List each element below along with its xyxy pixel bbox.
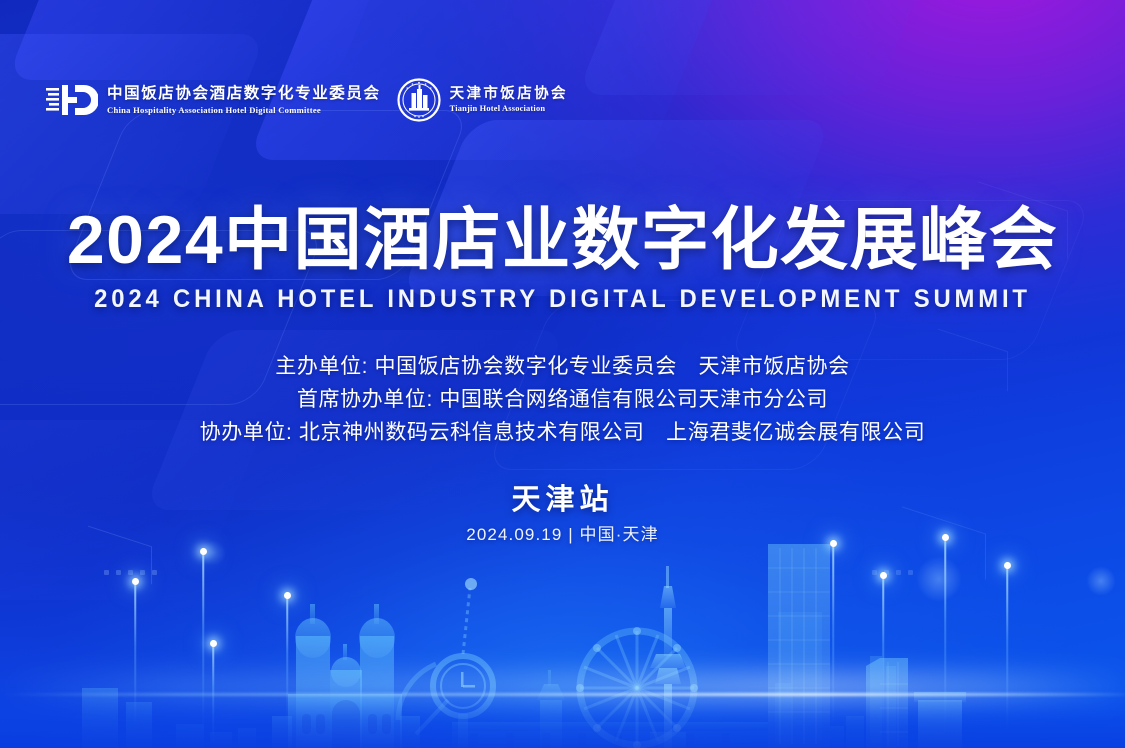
- light-beam: [128, 578, 142, 728]
- bottom-fade: [0, 686, 1125, 748]
- century-clock-monument: [398, 578, 493, 748]
- conference-banner: 中国饭店协会酒店数字化专业委员会 China Hospitality Assoc…: [0, 0, 1125, 748]
- logo-bar: 中国饭店协会酒店数字化专业委员会 China Hospitality Assoc…: [46, 78, 568, 122]
- decor-parallelogram: [577, 0, 944, 95]
- cha-logo-text: 中国饭店协会酒店数字化专业委员会 China Hospitality Assoc…: [107, 85, 381, 114]
- light-beam: [938, 534, 952, 732]
- tianjin-logo-cn: 天津市饭店协会: [450, 86, 568, 103]
- modern-towers: [768, 544, 966, 748]
- decor-parallelogram: [0, 34, 266, 214]
- title-block: 2024中国酒店业数字化发展峰会 2024 CHINA HOTEL INDUST…: [0, 206, 1125, 312]
- tianjin-eye-ferris-wheel: [576, 627, 698, 748]
- tianjin-radio-tv-tower: [650, 566, 686, 748]
- venue-block: 天津站 2024.09.19 | 中国·天津: [0, 485, 1125, 545]
- dot-row-motif: [872, 570, 913, 575]
- organizer-block: 主办单位: 中国饭店协会数字化专业委员会 天津市饭店协会 首席协办单位: 中国联…: [0, 350, 1125, 449]
- ground-glow-line: [0, 693, 1125, 696]
- haihe-bridge: [452, 722, 768, 748]
- organizer-line-host: 主办单位: 中国饭店协会数字化专业委员会 天津市饭店协会: [0, 350, 1125, 383]
- ground-glow-soft: [0, 674, 1125, 700]
- venue-date-location: 2024.09.19 | 中国·天津: [0, 526, 1125, 545]
- decor-parallelogram: [6, 0, 407, 80]
- venue-city: 天津站: [0, 485, 1125, 517]
- organizer-line-chief-coorganizer: 首席协办单位: 中国联合网络通信有限公司天津市分公司: [0, 383, 1125, 416]
- cha-logo-cn: 中国饭店协会酒店数字化专业委员会: [107, 85, 381, 103]
- dot-row-motif: [104, 570, 157, 575]
- organizer-line-coorganizer: 协办单位: 北京神州数码云科信息技术有限公司 上海君斐亿诚会展有限公司: [0, 416, 1125, 449]
- tianjin-hotel-association-seal-icon: [397, 78, 441, 122]
- cha-hd-monogram-icon: [46, 80, 98, 120]
- light-beam: [1000, 562, 1014, 732]
- light-beam: [280, 592, 294, 728]
- main-title-en: 2024 CHINA HOTEL INDUSTRY DIGITAL DEVELO…: [25, 287, 1099, 312]
- cha-logo: 中国饭店协会酒店数字化专业委员会 China Hospitality Assoc…: [46, 80, 381, 120]
- light-beam: [196, 548, 210, 730]
- main-title-cn: 2024中国酒店业数字化发展峰会: [0, 206, 1125, 274]
- tianjin-logo-text: 天津市饭店协会 Tianjin Hotel Association: [450, 86, 568, 114]
- xikai-church: [272, 604, 420, 748]
- glow-dot-motif: [1086, 566, 1116, 596]
- light-beam: [826, 540, 840, 732]
- tianjin-logo: 天津市饭店协会 Tianjin Hotel Association: [397, 78, 568, 122]
- cha-logo-en: China Hospitality Association Hotel Digi…: [107, 105, 381, 115]
- light-beam: [876, 572, 890, 732]
- glow-dot-motif: [916, 556, 962, 602]
- tianjin-logo-en: Tianjin Hotel Association: [450, 104, 568, 114]
- light-beam: [206, 640, 220, 744]
